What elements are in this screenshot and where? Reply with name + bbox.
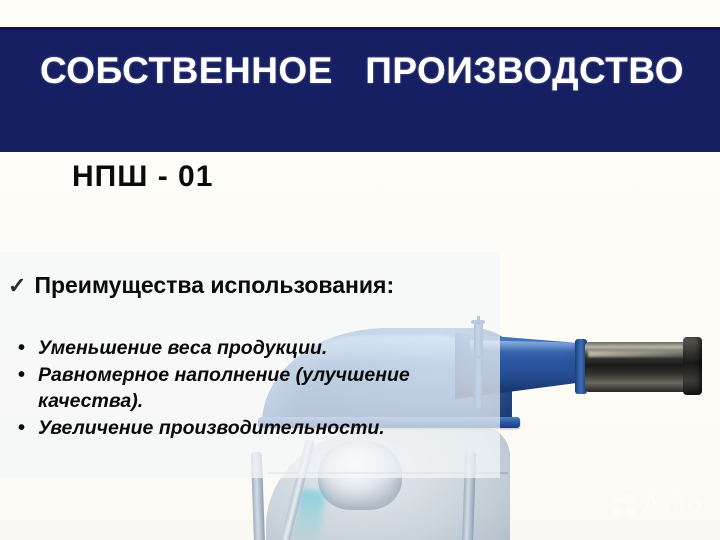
check-icon: ✓	[8, 275, 26, 297]
avito-watermark-label: Avito	[642, 492, 702, 517]
chrome-discharge-tube	[585, 342, 697, 392]
advantages-heading: ✓ Преимущества использования:	[8, 272, 394, 299]
list-item: Уменьшение веса продукции.	[38, 336, 508, 362]
product-model-name: НПШ - 01	[72, 160, 213, 194]
tube-end-cap	[683, 337, 702, 395]
top-strip	[0, 0, 720, 27]
advantages-heading-label: Преимущества использования:	[34, 272, 394, 299]
header-title: СОБСТВЕННОЕ ПРОИЗВОДСТВО	[40, 50, 684, 92]
tube-highlight	[588, 351, 692, 357]
avito-logo-icon	[612, 493, 638, 517]
advantages-list: Уменьшение веса продукции. Равномерное н…	[16, 336, 508, 443]
avito-watermark: Avito	[612, 492, 702, 517]
list-item: Равномерное наполнение (улучшение качест…	[38, 363, 508, 415]
advertisement-banner: СОБСТВЕННОЕ ПРОИЗВОДСТВО НПШ - 01 ✓ Преи…	[0, 0, 720, 540]
list-item: Увеличение производительности.	[38, 416, 508, 442]
